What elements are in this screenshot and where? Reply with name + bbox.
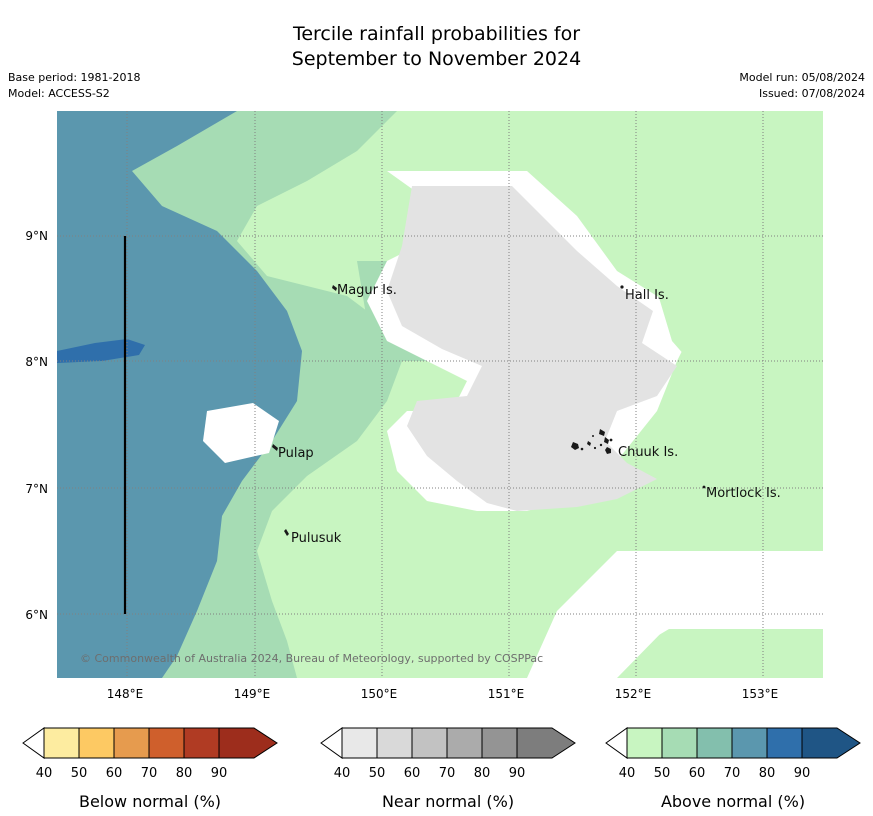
cbar-near-tick-70: 70 <box>439 766 456 781</box>
probability-map[interactable] <box>57 111 823 678</box>
cbar-near-right-arrow <box>517 728 575 758</box>
map-label-hall-is: Hall Is. <box>625 288 669 303</box>
cbar-above-tick-80: 80 <box>759 766 776 781</box>
cbar-above-left-arrow <box>606 728 627 758</box>
cbar-above-swatch-1 <box>662 728 697 758</box>
x-axis-tick-151e: 151°E <box>466 687 546 701</box>
cbar-below-tick-70: 70 <box>141 766 158 781</box>
cbar-below-title: Below normal (%) <box>22 792 278 811</box>
cbar-above-tick-70: 70 <box>724 766 741 781</box>
title-line-2: September to November 2024 <box>0 47 873 72</box>
cbar-below-swatch-2 <box>114 728 149 758</box>
page-title: Tercile rainfall probabilities for Septe… <box>0 22 873 72</box>
cbar-above-swatch-3 <box>732 728 767 758</box>
model-text: Model: ACCESS-S2 <box>8 86 140 102</box>
map-label-chuuk-is: Chuuk Is. <box>618 445 678 460</box>
cbar-above-swatch-0 <box>627 728 662 758</box>
cbar-near-tick-60: 60 <box>404 766 421 781</box>
y-axis-tick-8n: 8°N <box>0 355 48 369</box>
cbar-near-tick-80: 80 <box>474 766 491 781</box>
x-axis-tick-152e: 152°E <box>593 687 673 701</box>
cbar-above-tick-60: 60 <box>689 766 706 781</box>
cbar-below-tick-40: 40 <box>36 766 53 781</box>
cbar-near-ticks: 40 50 60 70 80 90 <box>320 766 576 784</box>
cbar-below-tick-60: 60 <box>106 766 123 781</box>
cbar-near-tick-50: 50 <box>369 766 386 781</box>
x-axis-tick-148e: 148°E <box>85 687 165 701</box>
cbar-below-swatch-0 <box>44 728 79 758</box>
cbar-below-right-arrow <box>219 728 277 758</box>
cbar-near-tick-40: 40 <box>334 766 351 781</box>
cbar-near-left-arrow <box>321 728 342 758</box>
cbar-near-swatch-2 <box>412 728 447 758</box>
colorbar-below-normal[interactable]: 40 50 60 70 80 90 Below normal (%) <box>22 722 278 784</box>
cbar-near-title: Near normal (%) <box>320 792 576 811</box>
y-axis-tick-6n: 6°N <box>0 608 48 622</box>
colorbar-near-normal[interactable]: 40 50 60 70 80 90 Near normal (%) <box>320 722 576 784</box>
cbar-below-swatch-1 <box>79 728 114 758</box>
cbar-below-left-arrow <box>23 728 44 758</box>
title-line-1: Tercile rainfall probabilities for <box>0 22 873 47</box>
cbar-near-tick-90: 90 <box>509 766 526 781</box>
hall-island-marker <box>620 285 623 288</box>
map-label-magur-is: Magur Is. <box>337 283 397 298</box>
cbar-above-swatch-2 <box>697 728 732 758</box>
cbar-above-ticks: 40 50 60 70 80 90 <box>605 766 861 784</box>
map-label-pulap: Pulap <box>278 446 314 461</box>
cbar-below-swatch-4 <box>184 728 219 758</box>
x-axis-tick-153e: 153°E <box>720 687 800 701</box>
map-label-pulusuk: Pulusuk <box>291 531 341 546</box>
mortlock-island-marker <box>703 486 706 489</box>
cbar-above-swatch-4 <box>767 728 802 758</box>
cbar-near-swatch-0 <box>342 728 377 758</box>
colorbar-above-normal[interactable]: 40 50 60 70 80 90 Above normal (%) <box>605 722 861 784</box>
cbar-below-tick-50: 50 <box>71 766 88 781</box>
cbar-below-tick-80: 80 <box>176 766 193 781</box>
cbar-above-tick-90: 90 <box>794 766 811 781</box>
cbar-above-title: Above normal (%) <box>605 792 861 811</box>
x-axis-tick-150e: 150°E <box>339 687 419 701</box>
cbar-above-tick-50: 50 <box>654 766 671 781</box>
metadata-right: Model run: 05/08/2024 Issued: 07/08/2024 <box>739 70 865 102</box>
map-label-mortlock-is: Mortlock Is. <box>706 486 781 501</box>
cbar-below-tick-90: 90 <box>211 766 228 781</box>
y-axis-tick-7n: 7°N <box>0 482 48 496</box>
y-axis-tick-9n: 9°N <box>0 229 48 243</box>
x-axis-tick-149e: 149°E <box>212 687 292 701</box>
metadata-left: Base period: 1981-2018 Model: ACCESS-S2 <box>8 70 140 102</box>
issued-text: Issued: 07/08/2024 <box>739 86 865 102</box>
cbar-below-swatch-3 <box>149 728 184 758</box>
cbar-near-swatch-3 <box>447 728 482 758</box>
model-run-text: Model run: 05/08/2024 <box>739 70 865 86</box>
cbar-above-tick-40: 40 <box>619 766 636 781</box>
cbar-below-ticks: 40 50 60 70 80 90 <box>22 766 278 784</box>
copyright-credit: © Commonwealth of Australia 2024, Bureau… <box>80 652 543 665</box>
base-period-text: Base period: 1981-2018 <box>8 70 140 86</box>
cbar-near-swatch-4 <box>482 728 517 758</box>
cbar-near-swatch-1 <box>377 728 412 758</box>
cbar-above-right-arrow <box>802 728 860 758</box>
